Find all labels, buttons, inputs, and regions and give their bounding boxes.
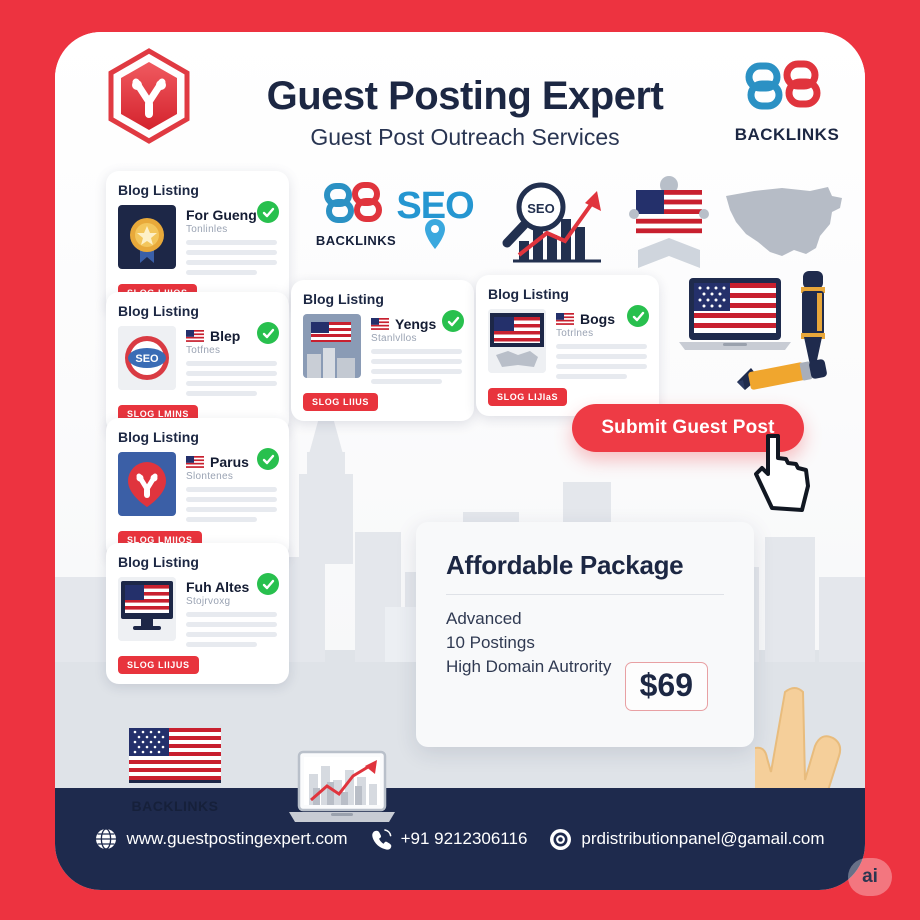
- skeleton-line: [186, 270, 257, 275]
- svg-text:SEO: SEO: [527, 201, 554, 216]
- blog-card-name: Yengs: [395, 316, 436, 332]
- verified-check-icon: [442, 310, 464, 332]
- verified-check-icon: [257, 448, 279, 470]
- blog-card-name: For Gueng: [186, 207, 257, 223]
- bottom-band-content: BACKLINKS: [55, 650, 865, 850]
- header-backlinks-badge: BACKLINKS: [727, 54, 847, 145]
- pencil-icon: [735, 354, 835, 398]
- ai-watermark: ai: [848, 858, 892, 896]
- backlinks-chain-icon: [740, 54, 834, 116]
- blog-card-title: Blog Listing: [118, 182, 277, 198]
- blog-card-title: Blog Listing: [118, 303, 277, 319]
- skeleton-line: [556, 364, 647, 369]
- page-subtitle: Guest Post Outreach Services: [205, 124, 725, 151]
- usa-flag-icon: [371, 318, 389, 330]
- skeleton-line: [186, 391, 257, 396]
- blog-card-subtitle: Slontenes: [186, 471, 277, 482]
- skeleton-line: [186, 371, 277, 376]
- skeleton-line: [186, 260, 277, 265]
- laptop-growth-chart-icon: [287, 750, 397, 828]
- blog-listing-card[interactable]: Blog Listing For Gueng Tonlinles: [106, 171, 289, 312]
- backlinks-chain-icon: [324, 180, 388, 226]
- usa-flag-ribbon-icon: [628, 172, 710, 272]
- blog-card-title: Blog Listing: [118, 429, 277, 445]
- skeleton-line: [371, 369, 462, 374]
- skeleton-line: [371, 349, 462, 354]
- skeleton-line: [186, 622, 277, 627]
- skeleton-line: [186, 381, 277, 386]
- hexagon-logo-icon: [106, 48, 192, 144]
- blog-card-subtitle: Stanlvllos: [371, 333, 462, 344]
- skeleton-line: [186, 612, 277, 617]
- blog-card-title: Blog Listing: [303, 291, 462, 307]
- map-pin-thumb: [118, 452, 176, 516]
- blog-card-name: Fuh Altes: [186, 579, 249, 595]
- blog-card-subtitle: Tonlinles: [186, 224, 277, 235]
- poster-root: Guest Posting Expert Guest Post Outreach…: [0, 0, 920, 920]
- verified-check-icon: [257, 201, 279, 223]
- blog-card-name: Parus: [210, 454, 249, 470]
- pointer-hand-cursor-icon: [750, 430, 820, 520]
- skeleton-line: [186, 517, 257, 522]
- verified-check-icon: [627, 305, 649, 327]
- usa-flag-icon: [556, 313, 574, 325]
- skeleton-line: [186, 642, 257, 647]
- skeleton-line: [556, 344, 647, 349]
- skeleton-line: [186, 487, 277, 492]
- blog-links-badge[interactable]: SLOG LIJIaS: [488, 388, 567, 406]
- skeleton-line: [186, 240, 277, 245]
- skeleton-line: [186, 632, 277, 637]
- blog-card-subtitle: Totfnes: [186, 345, 277, 356]
- main-card: Guest Posting Expert Guest Post Outreach…: [55, 32, 865, 890]
- blog-card-subtitle: Totrlnes: [556, 328, 647, 339]
- seo-magnifier-chart-icon: SEO: [489, 177, 609, 267]
- blog-card-subtitle: Stojrvoxg: [186, 596, 277, 607]
- blog-links-badge[interactable]: SLOG LIIUS: [303, 393, 378, 411]
- seo-stamp-thumb: SEO: [118, 326, 176, 390]
- blog-card-name: Blep: [210, 328, 240, 344]
- skeleton-line: [556, 354, 647, 359]
- skeleton-line: [556, 374, 627, 379]
- blog-listing-card[interactable]: Blog Listing: [476, 275, 659, 416]
- page-title: Guest Posting Expert: [205, 74, 725, 119]
- package-line: Advanced: [446, 607, 724, 631]
- bottom-backlinks-label: BACKLINKS: [129, 798, 221, 814]
- package-title: Affordable Package: [446, 550, 724, 581]
- blog-card-title: Blog Listing: [488, 286, 647, 302]
- flag-map-thumb: [488, 309, 546, 373]
- usa-flag-icon: [186, 330, 204, 342]
- skeleton-line: [371, 379, 442, 384]
- blog-card-name: Bogs: [580, 311, 615, 327]
- blog-listing-card[interactable]: Blog Listing: [291, 280, 474, 421]
- header-backlinks-label: BACKLINKS: [727, 125, 847, 145]
- verified-check-icon: [257, 322, 279, 344]
- blog-listing-card[interactable]: Blog Listing: [106, 418, 289, 559]
- icon-seo-group: SEO: [385, 187, 485, 256]
- svg-text:SEO: SEO: [135, 353, 159, 365]
- skeleton-line: [186, 361, 277, 366]
- skeleton-line: [371, 359, 462, 364]
- flag-monitor-thumb: [118, 577, 176, 641]
- divider: [446, 594, 724, 595]
- seo-pin-icon: [422, 217, 448, 251]
- blog-listing-card[interactable]: Blog Listing SEO: [106, 292, 289, 433]
- usa-flag-icon: [186, 456, 204, 468]
- skeleton-line: [186, 250, 277, 255]
- usa-map-icon: [720, 182, 850, 267]
- laptop-usa-flag-icon: [675, 272, 795, 360]
- skeleton-line: [186, 507, 277, 512]
- skeleton-line: [186, 497, 277, 502]
- verified-check-icon: [257, 573, 279, 595]
- medal-badge-thumb: [118, 205, 176, 269]
- blog-card-title: Blog Listing: [118, 554, 277, 570]
- city-flag-thumb: [303, 314, 361, 378]
- usa-flag-icon: [129, 728, 221, 786]
- bottom-backlinks-group: BACKLINKS: [129, 728, 221, 814]
